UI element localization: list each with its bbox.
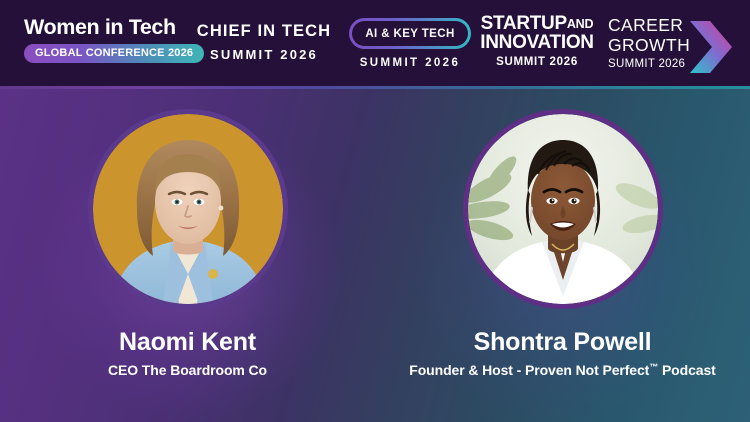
- chevron-right-icon: [688, 19, 734, 75]
- avatar-naomi-kent: [88, 109, 288, 309]
- logo-women-in-tech-badge: GLOBAL CONFERENCE 2026: [24, 44, 204, 63]
- portrait-photo-naomi-kent: [93, 114, 283, 304]
- logo-chief-in-tech-title: CHIEF IN TECH: [196, 22, 332, 41]
- conference-logo-bar: Women in Tech GLOBAL CONFERENCE 2026 CHI…: [0, 0, 750, 86]
- speaker-title: CEO The Boardroom Co: [0, 362, 375, 379]
- speaker-name: Naomi Kent: [0, 329, 375, 357]
- logo-startup-and-innovation[interactable]: STARTUPAND INNOVATION SUMMIT 2026: [478, 14, 596, 68]
- speaker-card-naomi-kent[interactable]: Naomi Kent CEO The Boardroom Co: [0, 89, 375, 422]
- speaker-title-main: Founder & Host - Proven Not Perfect: [409, 362, 649, 378]
- portrait-photo-shontra-powell: [468, 114, 658, 304]
- portrait-illustration-shontra-powell: [468, 114, 658, 304]
- logo-startup-innovation-subtitle: SUMMIT 2026: [478, 56, 596, 68]
- speaker-title: Founder & Host - Proven Not Perfect™ Pod…: [375, 362, 750, 379]
- speaker-info-shontra-powell: Shontra Powell Founder & Host - Proven N…: [375, 329, 750, 378]
- logo-and-word: AND: [567, 17, 593, 31]
- logo-startup-word: STARTUP: [481, 13, 567, 34]
- logo-ai-key-tech-pill: AI & KEY TECH: [349, 18, 471, 49]
- logo-ai-key-tech[interactable]: AI & KEY TECH SUMMIT 2026: [346, 18, 474, 69]
- logo-ai-key-tech-subtitle: SUMMIT 2026: [346, 57, 474, 69]
- logo-ai-key-tech-pill-inner: AI & KEY TECH: [352, 21, 468, 46]
- logo-women-in-tech-title: Women in Tech: [24, 16, 196, 39]
- logo-career-growth[interactable]: CAREER GROWTH SUMMIT 2026: [608, 16, 738, 70]
- speaker-name: Shontra Powell: [375, 329, 750, 357]
- logo-startup-row: STARTUPAND: [478, 14, 596, 33]
- logo-innovation-word: INNOVATION: [480, 32, 593, 53]
- logo-ai-key-tech-title: AI & KEY TECH: [365, 28, 454, 40]
- trademark-symbol: ™: [649, 362, 658, 372]
- logo-chief-in-tech-subtitle: SUMMIT 2026: [196, 47, 332, 62]
- speaker-info-naomi-kent: Naomi Kent CEO The Boardroom Co: [0, 329, 375, 378]
- logo-innovation-row: INNOVATION: [478, 33, 596, 52]
- logo-chief-in-tech[interactable]: CHIEF IN TECH SUMMIT 2026: [196, 22, 332, 62]
- portrait-illustration-naomi-kent: [93, 114, 283, 304]
- logo-women-in-tech[interactable]: Women in Tech GLOBAL CONFERENCE 2026: [24, 16, 196, 63]
- avatar-shontra-powell: [463, 109, 663, 309]
- speaker-title-suffix: Podcast: [658, 362, 716, 378]
- speakers-stage: Naomi Kent CEO The Boardroom Co: [0, 89, 750, 422]
- speaker-announcement-slide: Women in Tech GLOBAL CONFERENCE 2026 CHI…: [0, 0, 750, 422]
- speaker-card-shontra-powell[interactable]: Shontra Powell Founder & Host - Proven N…: [375, 89, 750, 422]
